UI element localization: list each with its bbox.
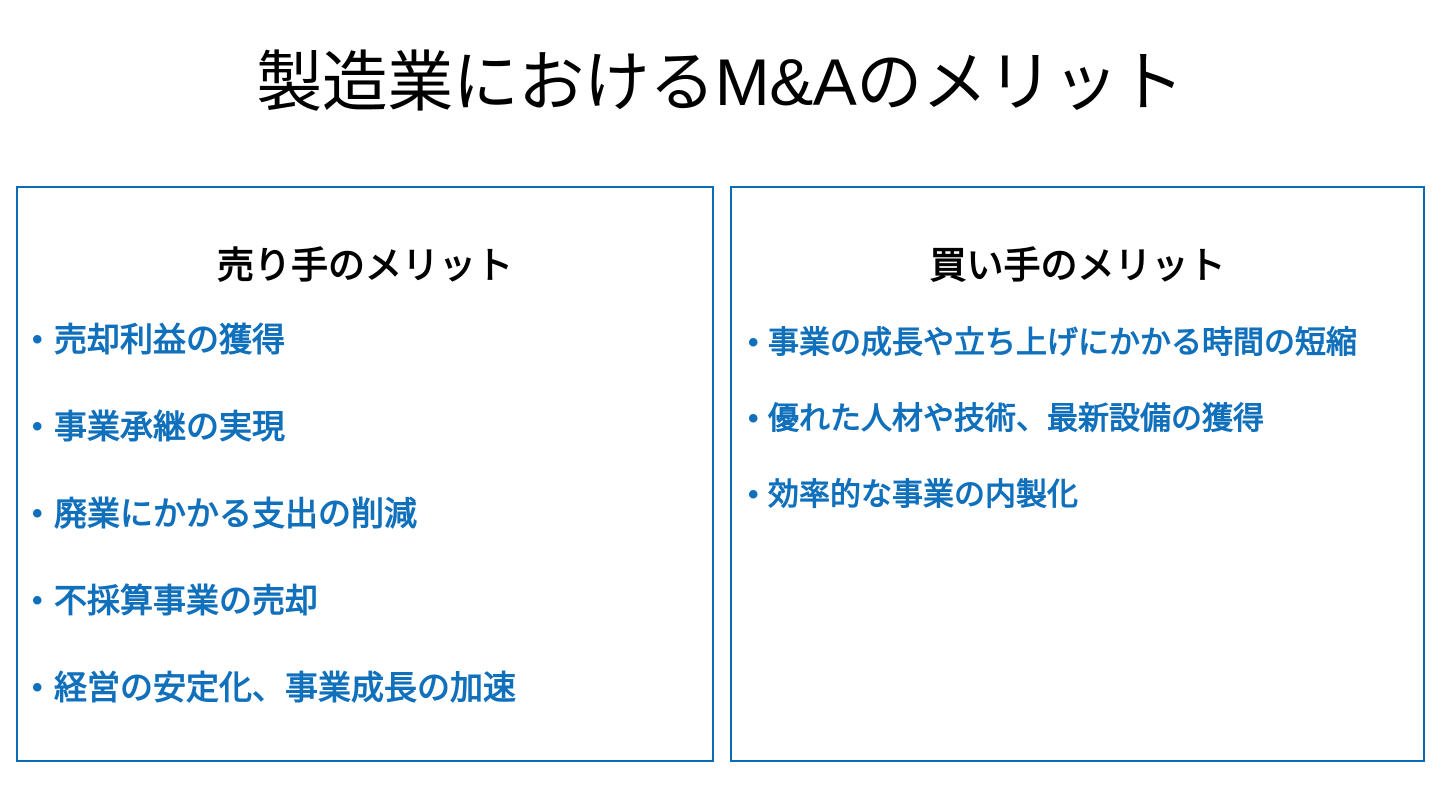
bullet-dot-icon: • bbox=[32, 581, 54, 621]
panel-seller-benefits: 売り手のメリット • 売却利益の獲得 • 事業承継の実現 • 廃業にかかる支出の… bbox=[16, 186, 714, 762]
list-item: • 効率的な事業の内製化 bbox=[748, 468, 1411, 522]
list-item-label: 売却利益の獲得 bbox=[54, 320, 698, 360]
list-item-label: 優れた人材や技術、最新設備の獲得 bbox=[768, 392, 1411, 446]
list-item-label: 事業承継の実現 bbox=[54, 407, 698, 447]
list-item-label: 廃業にかかる支出の削減 bbox=[54, 494, 698, 534]
panel-header-buyer: 買い手のメリット bbox=[732, 235, 1423, 289]
bullet-dot-icon: • bbox=[32, 320, 54, 360]
bullet-dot-icon: • bbox=[32, 407, 54, 447]
bullet-dot-icon: • bbox=[32, 494, 54, 534]
list-item-label: 経営の安定化、事業成長の加速 bbox=[54, 668, 698, 708]
list-item: • 売却利益の獲得 bbox=[32, 320, 698, 360]
list-item: • 事業の成長や立ち上げにかかる時間の短縮 bbox=[748, 316, 1411, 370]
list-item: • 不採算事業の売却 bbox=[32, 581, 698, 621]
bullet-list-seller: • 売却利益の獲得 • 事業承継の実現 • 廃業にかかる支出の削減 • 不採算事… bbox=[18, 320, 712, 708]
list-item: • 事業承継の実現 bbox=[32, 407, 698, 447]
list-item-label: 不採算事業の売却 bbox=[54, 581, 698, 621]
panel-buyer-benefits: 買い手のメリット • 事業の成長や立ち上げにかかる時間の短縮 • 優れた人材や技… bbox=[730, 186, 1425, 762]
panel-header-seller: 売り手のメリット bbox=[18, 235, 712, 289]
bullet-dot-icon: • bbox=[748, 392, 768, 446]
bullet-dot-icon: • bbox=[748, 316, 768, 370]
list-item-label: 事業の成長や立ち上げにかかる時間の短縮 bbox=[768, 316, 1411, 370]
list-item: • 優れた人材や技術、最新設備の獲得 bbox=[748, 392, 1411, 446]
list-item: • 経営の安定化、事業成長の加速 bbox=[32, 668, 698, 708]
bullet-dot-icon: • bbox=[32, 668, 54, 708]
list-item: • 廃業にかかる支出の削減 bbox=[32, 494, 698, 534]
page-title: 製造業におけるM&Aのメリット bbox=[0, 47, 1440, 118]
bullet-dot-icon: • bbox=[748, 468, 768, 522]
list-item-label: 効率的な事業の内製化 bbox=[768, 468, 1411, 522]
bullet-list-buyer: • 事業の成長や立ち上げにかかる時間の短縮 • 優れた人材や技術、最新設備の獲得… bbox=[732, 316, 1423, 522]
